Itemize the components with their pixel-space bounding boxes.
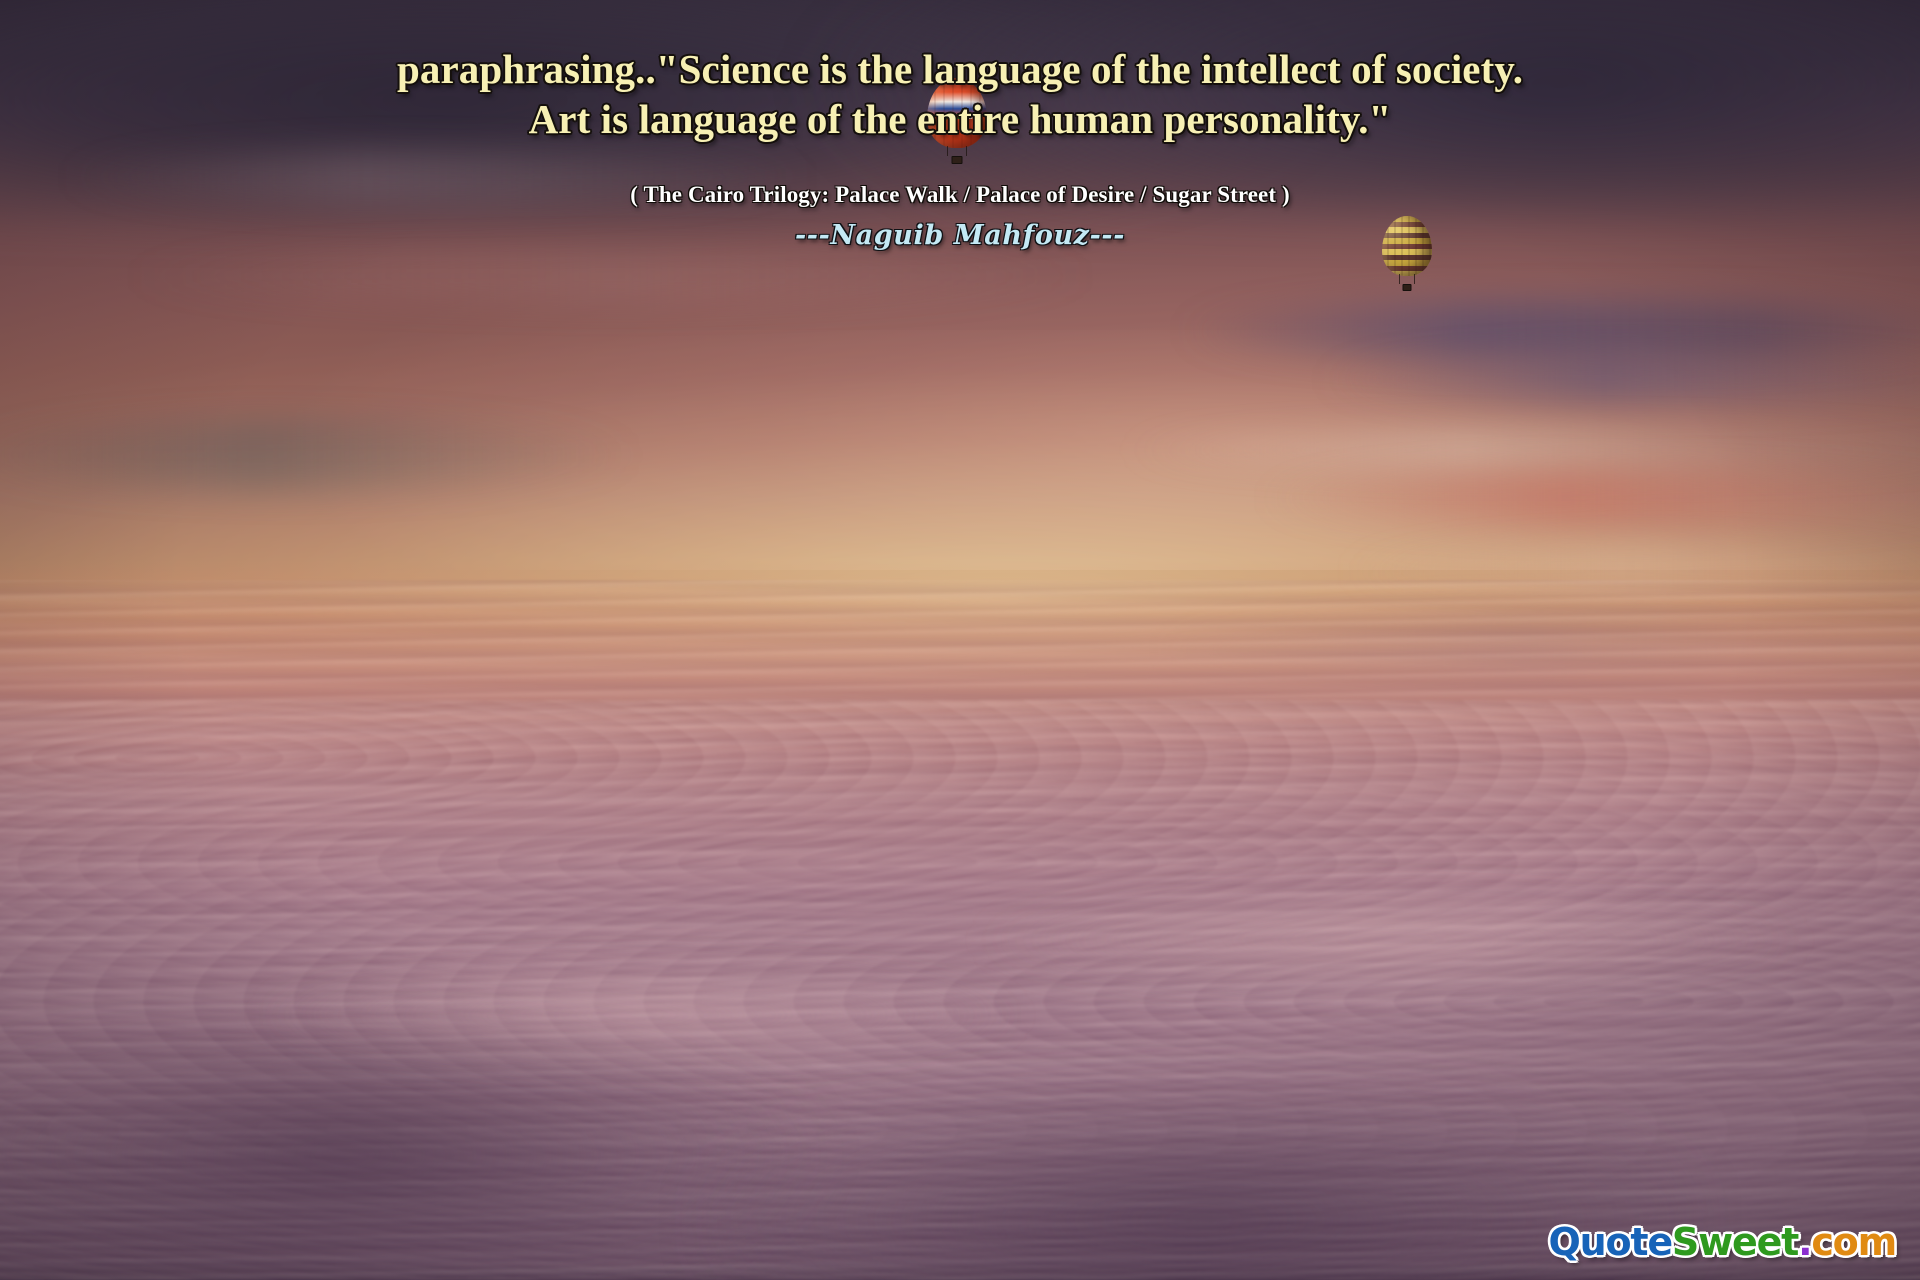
balloon-ropes: [1399, 274, 1415, 284]
watermark-part-com: com: [1811, 1220, 1896, 1264]
quote-line-2: Art is language of the entire human pers…: [0, 94, 1920, 144]
watermark-part-quote: Quote: [1549, 1220, 1672, 1264]
balloon-basket: [1403, 284, 1412, 291]
quote-line-1: paraphrasing.."Science is the language o…: [0, 44, 1920, 94]
quotesweet-watermark-logo[interactable]: QuoteSweet.com: [1549, 1220, 1896, 1264]
quote-author: ---Naguib Mahfouz---: [0, 219, 1920, 253]
watermark-part-sweet: Sweet: [1672, 1220, 1798, 1264]
cloud-highlight: [980, 880, 1800, 1000]
quote-text-block: paraphrasing.."Science is the language o…: [0, 44, 1920, 253]
cloud-highlight: [260, 950, 1020, 1080]
quote-source: ( The Cairo Trilogy: Palace Walk / Palac…: [0, 180, 1920, 210]
quote-image-canvas: legmEEbe paraphrasing.."Science is the l…: [0, 0, 1920, 1280]
watermark-dot: .: [1798, 1220, 1811, 1264]
